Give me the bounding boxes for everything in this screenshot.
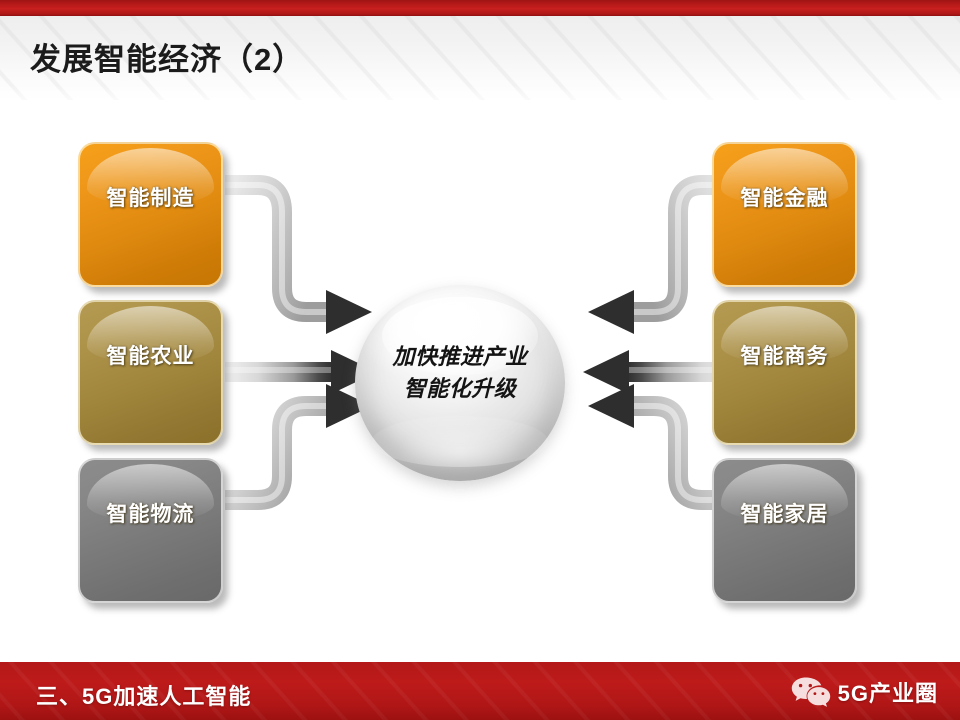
node-left-2[interactable]: 智能农业 [78,300,223,445]
node-left-1-label: 智能制造 [80,182,221,212]
node-right-1-label: 智能金融 [714,182,855,212]
connector-left-top [225,185,372,334]
connector-left-bottom [225,384,372,500]
node-right-3-label: 智能家居 [714,498,855,528]
slide-canvas: 发展智能经济（2） [0,0,960,720]
node-left-1[interactable]: 智能制造 [78,142,223,287]
node-left-3-label: 智能物流 [80,498,221,528]
page-title: 发展智能经济（2） [30,44,304,75]
center-sphere-line-1: 加快推进产业 [355,341,565,373]
center-sphere-line-2: 智能化升级 [355,373,565,405]
diagram-area: 智能制造 智能农业 智能物流 智能金融 智能商务 智能家居 [0,100,960,660]
node-right-1[interactable]: 智能金融 [712,142,857,287]
brand-block[interactable]: 5G产业圈 [791,676,938,708]
node-right-3[interactable]: 智能家居 [712,458,857,603]
center-sphere-text: 加快推进产业 智能化升级 [355,341,565,405]
node-right-2[interactable]: 智能商务 [712,300,857,445]
wechat-icon [791,677,831,708]
footer-bar: 三、5G加速人工智能 5G产业圈 [0,662,960,720]
node-left-3[interactable]: 智能物流 [78,458,223,603]
node-right-2-label: 智能商务 [714,340,855,370]
top-red-bar [0,0,960,16]
center-sphere[interactable]: 加快推进产业 智能化升级 [355,285,565,481]
footer-section-label: 三、5G加速人工智能 [36,679,251,711]
brand-name: 5G产业圈 [838,676,938,708]
node-left-2-label: 智能农业 [80,340,221,370]
